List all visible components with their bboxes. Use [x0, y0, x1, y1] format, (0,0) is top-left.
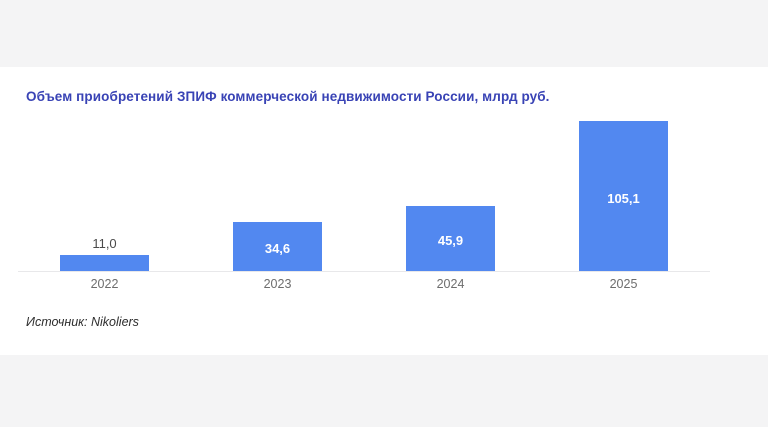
chart-title: Объем приобретений ЗПИФ коммерческой нед…: [26, 89, 550, 104]
bar-slot-2022: 11,0: [18, 107, 191, 271]
bar-series: 11,0 34,6 45,9 105,1: [18, 107, 710, 271]
bar-value-label-2022: 11,0: [92, 237, 116, 250]
x-axis-line: [18, 271, 710, 272]
bar-value-label-2023: 34,6: [265, 242, 290, 255]
x-tick-label-2024: 2024: [364, 277, 537, 291]
chart-plot-area: 11,0 34,6 45,9 105,1: [18, 107, 710, 272]
x-axis-labels: 2022 2023 2024 2025: [18, 277, 710, 291]
x-tick-label-2022: 2022: [18, 277, 191, 291]
bar-slot-2024: 45,9: [364, 107, 537, 271]
x-tick-label-2023: 2023: [191, 277, 364, 291]
bar-slot-2023: 34,6: [191, 107, 364, 271]
page-background: Объем приобретений ЗПИФ коммерческой нед…: [0, 0, 768, 427]
bar-value-label-2025: 105,1: [607, 192, 640, 205]
chart-card: Объем приобретений ЗПИФ коммерческой нед…: [0, 67, 768, 355]
bar-value-label-2024: 45,9: [438, 234, 463, 247]
bar-slot-2025: 105,1: [537, 107, 710, 271]
bar-2025[interactable]: 105,1: [579, 121, 668, 271]
source-note: Источник: Nikoliers: [26, 315, 139, 329]
x-tick-label-2025: 2025: [537, 277, 710, 291]
bar-2022[interactable]: 11,0: [60, 255, 149, 271]
bar-2023[interactable]: 34,6: [233, 222, 322, 271]
bar-2024[interactable]: 45,9: [406, 206, 495, 271]
